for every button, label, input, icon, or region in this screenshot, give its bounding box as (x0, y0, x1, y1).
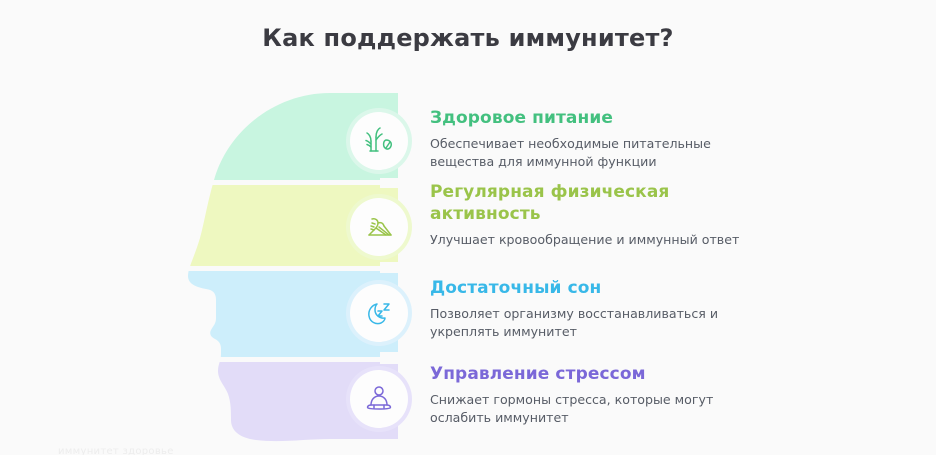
item-desc-sleep: Позволяет организму восстанавливаться и … (430, 305, 770, 341)
item-title-sleep: Достаточный сон (430, 278, 770, 300)
item-activity: Регулярная физическая активность Улучшае… (430, 182, 770, 248)
watermark-text: иммунитет здоровье (58, 446, 174, 455)
item-sleep: Достаточный сон Позволяет организму восс… (430, 278, 770, 341)
item-stress: Управление стрессом Снижает гормоны стре… (430, 364, 770, 427)
item-nutrition: Здоровое питание Обеспечивает необходимы… (430, 108, 770, 171)
item-title-nutrition: Здоровое питание (430, 108, 770, 130)
plant-greens-icon (350, 112, 408, 170)
running-shoe-icon (350, 198, 408, 256)
moon-zzz-icon (350, 284, 408, 342)
meditating-person-icon (350, 370, 408, 428)
item-title-activity: Регулярная физическая активность (430, 182, 770, 226)
item-desc-nutrition: Обеспечивает необходимые питательные вещ… (430, 135, 770, 171)
page-title: Как поддержать иммунитет? (0, 24, 936, 52)
immunity-infographic: Как поддержать иммунитет? (0, 0, 936, 455)
item-desc-activity: Улучшает кровообращение и иммунный ответ (430, 231, 770, 249)
item-desc-stress: Снижает гормоны стресса, которые могут о… (430, 391, 770, 427)
item-title-stress: Управление стрессом (430, 364, 770, 386)
